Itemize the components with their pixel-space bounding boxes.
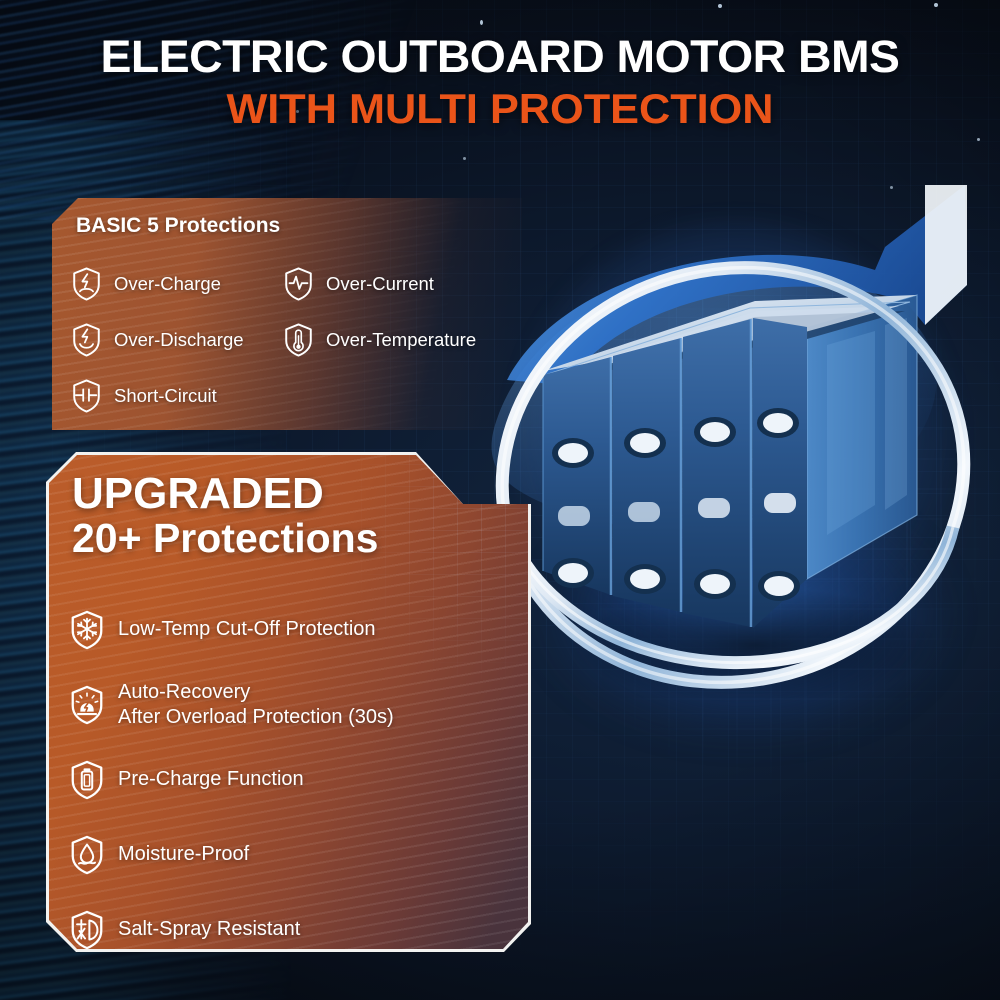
page-title-line2: WITH MULTI PROTECTION xyxy=(0,88,1000,130)
header: ELECTRIC OUTBOARD MOTOR BMS WITH MULTI P… xyxy=(0,34,1000,130)
upgraded-heading-line1: UPGRADED xyxy=(72,472,378,515)
shield-over-charge-icon xyxy=(70,266,103,302)
basic-panel-content: BASIC 5 Protections Over-Charge xyxy=(52,198,522,430)
protection-item-over-discharge: Over-Discharge xyxy=(70,322,282,358)
shield-over-discharge-icon xyxy=(70,322,103,358)
protection-label: Low-Temp Cut-Off Protection xyxy=(118,617,376,641)
protection-label: Over-Temperature xyxy=(326,329,476,351)
protection-label: Moisture-Proof xyxy=(118,842,249,866)
shield-short-circuit-icon xyxy=(70,378,103,414)
protection-label: Over-Discharge xyxy=(114,329,244,351)
product-image xyxy=(455,175,1000,795)
protection-item-short-circuit: Short-Circuit xyxy=(70,378,282,414)
upgraded-protections-panel: UPGRADED 20+ Protections xyxy=(46,452,531,952)
protection-item-over-charge: Over-Charge xyxy=(70,266,282,302)
basic-protections-list: Over-Charge Over-Current xyxy=(70,256,522,424)
upgraded-protections-list: Low-Temp Cut-Off Protection xyxy=(68,592,528,967)
protection-label: Pre-Charge Function xyxy=(118,767,304,791)
sparkle-dot xyxy=(463,157,466,160)
protection-item-auto-recovery: Auto-Recovery After Overload Protection … xyxy=(68,667,528,742)
page-title-line1: ELECTRIC OUTBOARD MOTOR BMS xyxy=(0,34,1000,79)
sparkle-dot xyxy=(977,138,980,141)
basic-row: Over-Discharge Over-Temperature xyxy=(70,312,522,368)
shield-over-current-icon xyxy=(282,266,315,302)
protection-label: Over-Charge xyxy=(114,273,221,295)
upgraded-heading: UPGRADED 20+ Protections xyxy=(72,472,378,561)
basic-panel-title: BASIC 5 Protections xyxy=(76,214,280,238)
shield-alarm-bolt-icon xyxy=(68,684,106,726)
infographic-canvas: ELECTRIC OUTBOARD MOTOR BMS WITH MULTI P… xyxy=(0,0,1000,1000)
protection-item-over-current: Over-Current xyxy=(282,266,522,302)
protection-item-low-temp-cutoff: Low-Temp Cut-Off Protection xyxy=(68,592,528,667)
protection-item-salt-spray: Salt-Spray Resistant xyxy=(68,892,528,967)
sparkle-dot xyxy=(718,4,722,8)
arrow-head-highlight xyxy=(925,185,967,325)
protection-label: Over-Current xyxy=(326,273,434,295)
protection-item-pre-charge: Pre-Charge Function xyxy=(68,742,528,817)
protection-item-over-temperature: Over-Temperature xyxy=(282,322,522,358)
protection-label: Auto-Recovery After Overload Protection … xyxy=(118,680,394,729)
basic-row: Short-Circuit xyxy=(70,368,522,424)
shield-salt-spray-icon xyxy=(68,909,106,951)
upgraded-heading-line2: 20+ Protections xyxy=(72,517,378,560)
sparkle-dot xyxy=(480,20,483,25)
shield-battery-icon xyxy=(68,759,106,801)
basic-row: Over-Charge Over-Current xyxy=(70,256,522,312)
battery-pack-illustration xyxy=(455,175,1000,795)
protection-label: Short-Circuit xyxy=(114,385,217,407)
protection-label: Salt-Spray Resistant xyxy=(118,917,300,941)
shield-over-temperature-icon xyxy=(282,322,315,358)
shield-water-drop-icon xyxy=(68,834,106,876)
shield-snowflake-icon xyxy=(68,609,106,651)
protection-item-moisture-proof: Moisture-Proof xyxy=(68,817,528,892)
sparkle-dot xyxy=(934,3,938,7)
